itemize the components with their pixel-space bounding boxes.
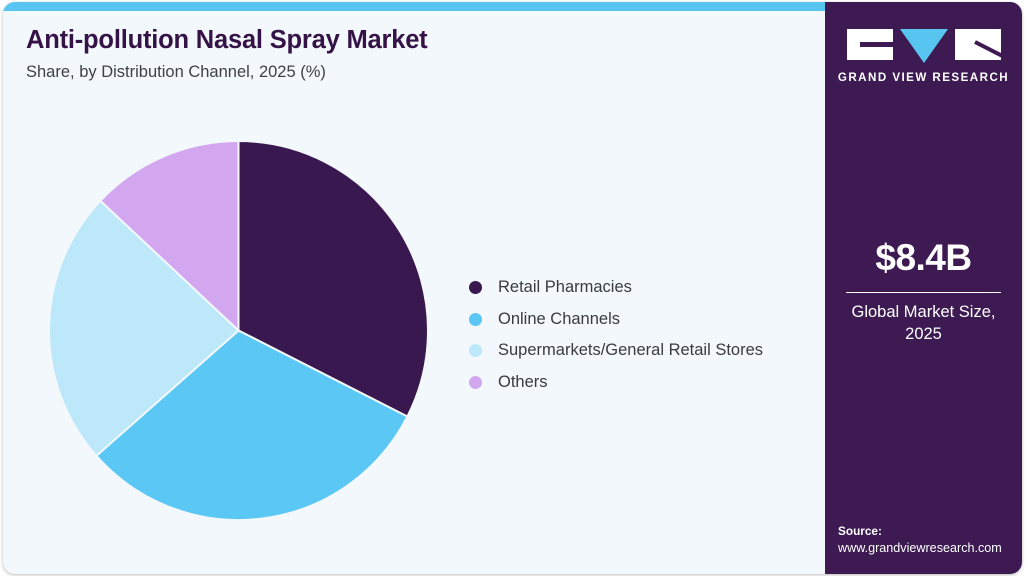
legend-swatch-icon xyxy=(469,344,482,357)
pie-chart-svg xyxy=(49,141,428,520)
page-subtitle: Share, by Distribution Channel, 2025 (%) xyxy=(26,63,726,83)
legend-item-label: Others xyxy=(498,373,548,392)
logo-marks xyxy=(825,29,1022,62)
pie-chart xyxy=(49,141,428,520)
page-title: Anti-pollution Nasal Spray Market xyxy=(26,26,726,56)
legend-item-label: Retail Pharmacies xyxy=(498,278,632,297)
legend-swatch-icon xyxy=(469,376,482,389)
logo-letter-r-icon xyxy=(955,29,1001,60)
chart-legend: Retail PharmaciesOnline ChannelsSupermar… xyxy=(469,272,809,398)
stat-divider xyxy=(846,292,1001,294)
legend-item[interactable]: Online Channels xyxy=(469,304,809,336)
logo-letter-g-icon xyxy=(847,29,893,60)
stat-caption: Global Market Size, 2025 xyxy=(825,302,1022,346)
legend-item-label: Supermarkets/General Retail Stores xyxy=(498,341,763,360)
source-url[interactable]: www.grandviewresearch.com xyxy=(838,540,1022,558)
stat-value: $8.4B xyxy=(825,238,1022,279)
market-size-stat: $8.4B Global Market Size, 2025 xyxy=(825,238,1022,346)
chart-canvas: Anti-pollution Nasal Spray Market Share,… xyxy=(0,0,1025,576)
legend-item[interactable]: Supermarkets/General Retail Stores xyxy=(469,335,809,367)
brand-logo: GRAND VIEW RESEARCH xyxy=(825,29,1022,84)
source-block: Source: www.grandviewresearch.com xyxy=(838,523,1022,558)
source-label: Source: xyxy=(838,523,1022,540)
logo-letter-v-icon xyxy=(900,29,948,63)
chart-header: Anti-pollution Nasal Spray Market Share,… xyxy=(26,26,726,82)
sidebar-panel: GRAND VIEW RESEARCH $8.4B Global Market … xyxy=(825,2,1022,574)
legend-swatch-icon xyxy=(469,313,482,326)
legend-item[interactable]: Others xyxy=(469,367,809,399)
legend-item[interactable]: Retail Pharmacies xyxy=(469,272,809,304)
logo-wordmark: GRAND VIEW RESEARCH xyxy=(825,71,1022,84)
chart-card: Anti-pollution Nasal Spray Market Share,… xyxy=(3,2,1022,574)
legend-item-label: Online Channels xyxy=(498,310,620,329)
legend-swatch-icon xyxy=(469,281,482,294)
